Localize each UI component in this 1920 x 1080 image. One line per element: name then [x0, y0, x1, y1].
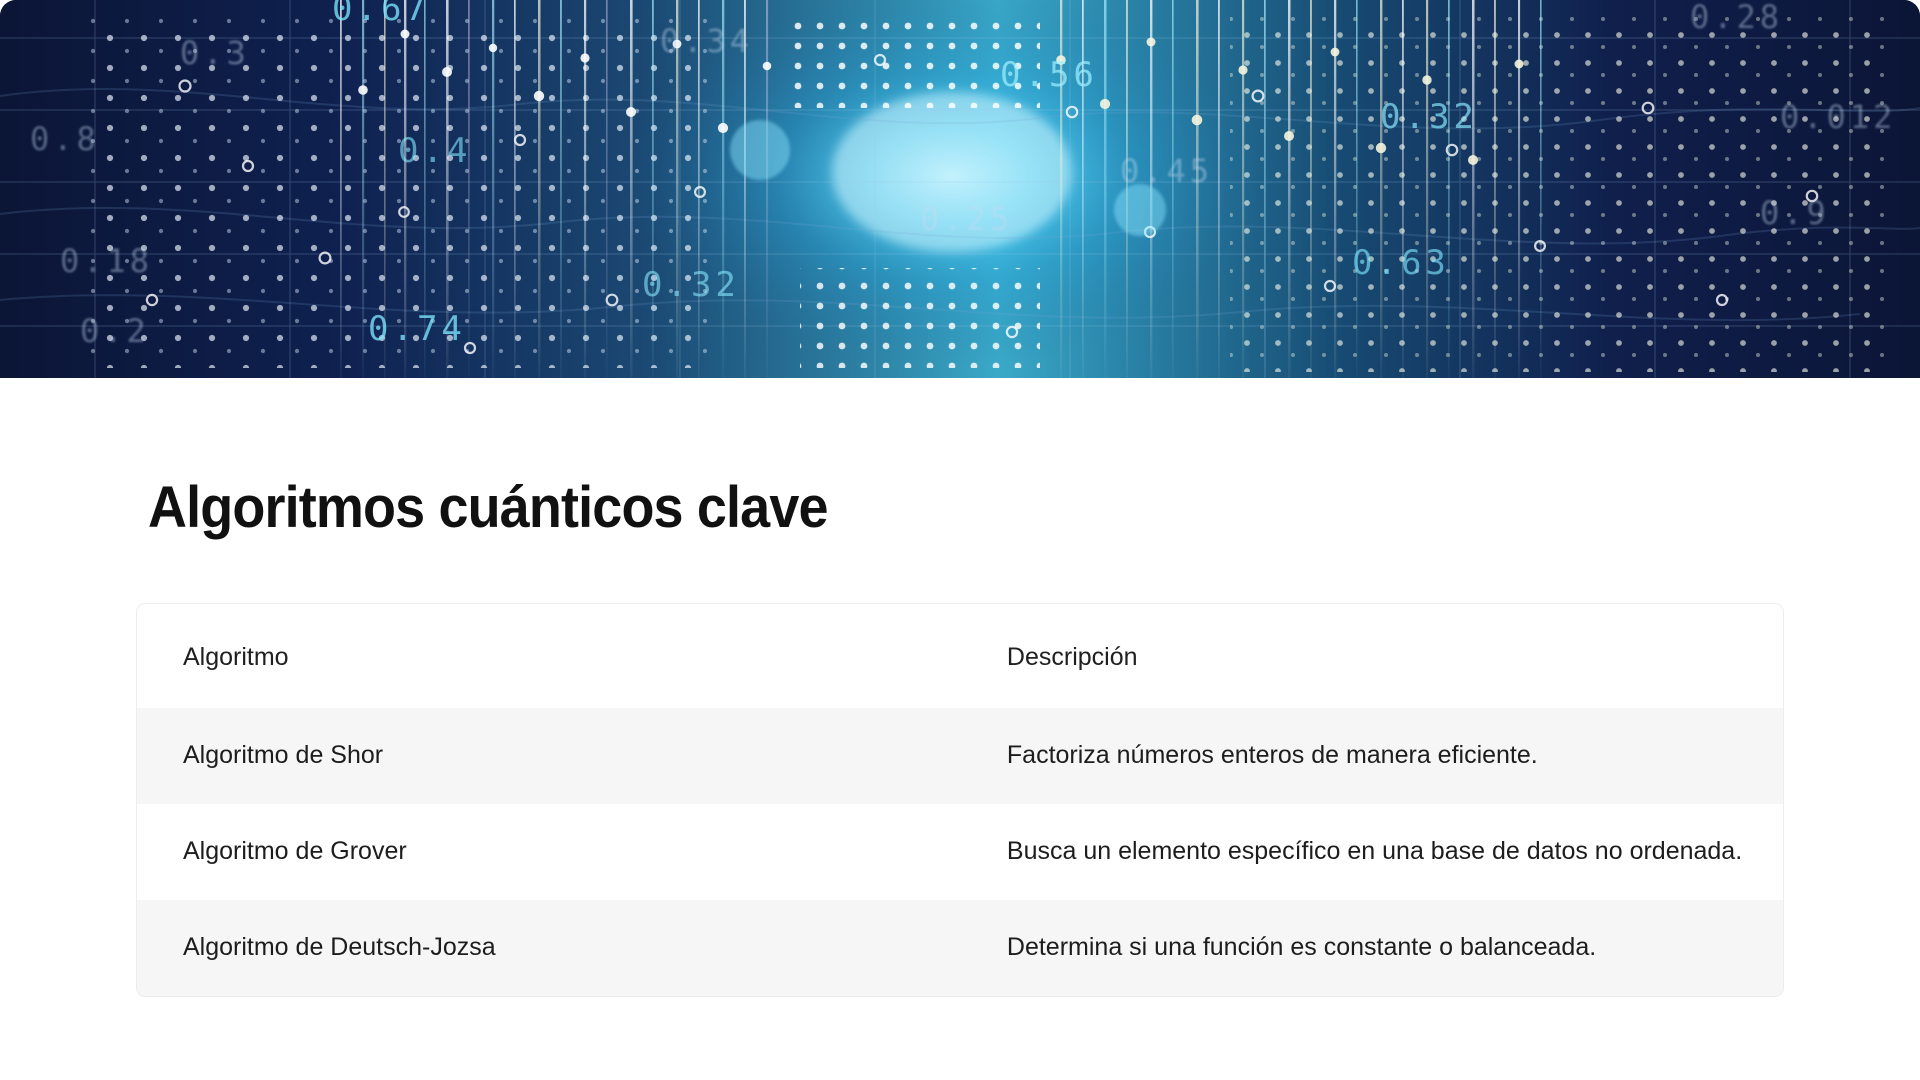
table-header-row: Algoritmo Descripción	[137, 604, 1783, 708]
table-header: Algoritmo Descripción	[137, 604, 1783, 708]
svg-text:0.28: 0.28	[1690, 0, 1783, 36]
table-row: Algoritmo de Shor Factoriza números ente…	[137, 708, 1783, 804]
table-body: Algoritmo de Shor Factoriza números ente…	[137, 708, 1783, 996]
svg-text:0.9: 0.9	[1760, 194, 1830, 232]
algorithms-table: Algoritmo Descripción Algoritmo de Shor …	[137, 604, 1783, 996]
cell-descripcion: Determina si una función es constante o …	[993, 900, 1783, 996]
hero-image: 0.67 0.56 0.74 0.32 0.63 0.4 0.32 0.3 0.…	[0, 0, 1920, 378]
cell-descripcion: Busca un elemento específico en una base…	[993, 804, 1783, 900]
svg-text:0.8: 0.8	[30, 120, 100, 158]
svg-text:0.56: 0.56	[1000, 55, 1098, 95]
cell-descripcion: Factoriza números enteros de manera efic…	[993, 708, 1783, 804]
svg-text:0.2: 0.2	[80, 312, 150, 350]
svg-text:0.3: 0.3	[180, 34, 250, 72]
page-root: 0.67 0.56 0.74 0.32 0.63 0.4 0.32 0.3 0.…	[0, 0, 1920, 1080]
table-row: Algoritmo de Deutsch-Jozsa Determina si …	[137, 900, 1783, 996]
column-header-descripcion: Descripción	[993, 604, 1783, 708]
svg-text:0.63: 0.63	[1352, 243, 1450, 283]
cell-algoritmo: Algoritmo de Deutsch-Jozsa	[137, 900, 993, 996]
cell-algoritmo: Algoritmo de Grover	[137, 804, 993, 900]
svg-text:0.67: 0.67	[332, 0, 430, 29]
svg-text:0.32: 0.32	[642, 265, 740, 305]
page-title: Algoritmos cuánticos clave	[148, 478, 828, 539]
svg-text:0.18: 0.18	[60, 242, 153, 280]
svg-text:0.45: 0.45	[1120, 152, 1213, 190]
svg-text:0.012: 0.012	[1780, 98, 1896, 136]
svg-text:0.25: 0.25	[920, 200, 1013, 238]
column-header-algoritmo: Algoritmo	[137, 604, 993, 708]
cell-algoritmo: Algoritmo de Shor	[137, 708, 993, 804]
svg-text:0.32: 0.32	[1380, 97, 1478, 137]
svg-text:0.4: 0.4	[398, 131, 471, 171]
hero-banner: 0.67 0.56 0.74 0.32 0.63 0.4 0.32 0.3 0.…	[0, 0, 1920, 378]
algorithms-table-card: Algoritmo Descripción Algoritmo de Shor …	[136, 603, 1784, 997]
table-row: Algoritmo de Grover Busca un elemento es…	[137, 804, 1783, 900]
svg-text:0.34: 0.34	[660, 22, 753, 60]
svg-text:0.74: 0.74	[368, 309, 466, 349]
